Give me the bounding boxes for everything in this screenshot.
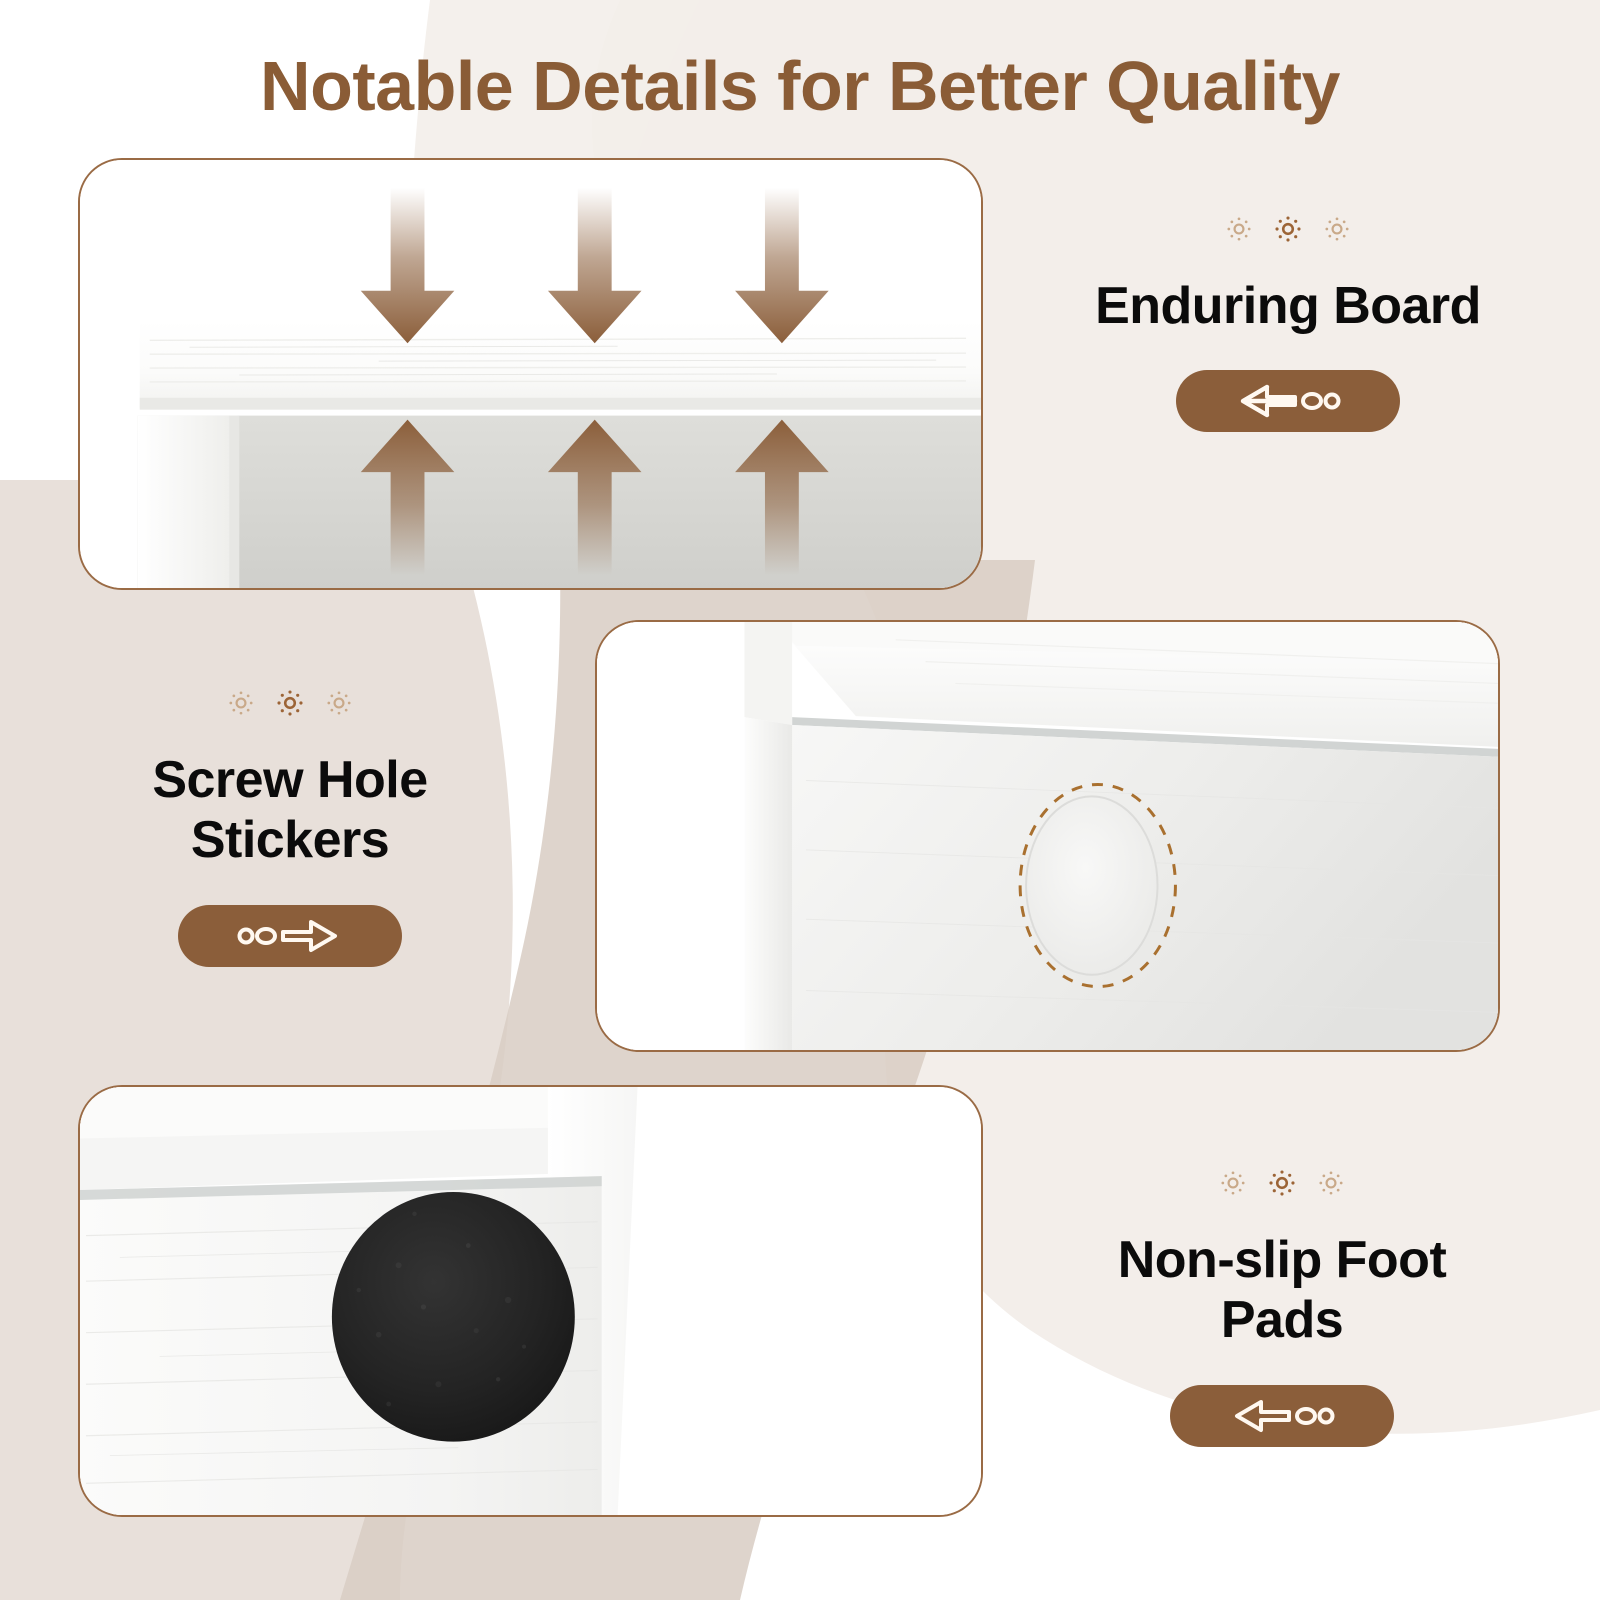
sun-sparkle-icon [228,690,254,716]
arrow-left-dots-pill[interactable] [1170,1385,1394,1447]
sun-sparkle-icon [276,689,304,717]
sun-sparkle-icon [1324,216,1350,242]
feature-title-screw-hole-line1: Screw Hole [32,750,548,810]
board-photo [80,160,981,588]
sparkle-row [32,686,548,720]
foot-pad-photo-svg [80,1087,981,1515]
feature-title-foot-pads-line2: Pads [1018,1290,1546,1350]
sun-sparkle-icon [1226,216,1252,242]
sparkle-row [1018,1166,1546,1200]
sun-sparkle-icon [1318,1170,1344,1196]
feature-card-foot-pads [78,1085,983,1517]
screw-hole-photo [597,622,1498,1050]
feature-title-enduring-board: Enduring Board [1030,276,1546,336]
arrow-right-dots-pill[interactable] [178,905,402,967]
arrow-left-dots-icon [1223,1396,1341,1436]
feature-title-foot-pads-line1: Non-slip Foot [1018,1230,1546,1290]
feature-label-enduring-board: Enduring Board [1030,212,1546,432]
page-title: Notable Details for Better Quality [0,48,1600,125]
arrow-right-dots-icon [231,916,349,956]
sun-sparkle-icon [1274,215,1302,243]
sun-sparkle-icon [1220,1170,1246,1196]
feature-card-enduring-board [78,158,983,590]
arrow-left-dots-icon [1229,381,1347,421]
feature-label-foot-pads: Non-slip Foot Pads [1018,1166,1546,1447]
board-photo-svg [80,160,981,588]
feature-title-screw-hole-line2: Stickers [32,810,548,870]
foot-pad-photo [80,1087,981,1515]
sun-sparkle-icon [1268,1169,1296,1197]
non-slip-foot-pad [332,1192,575,1442]
sparkle-row [1030,212,1546,246]
infographic-canvas: Notable Details for Better Quality [0,0,1600,1600]
feature-label-screw-hole: Screw Hole Stickers [32,686,548,967]
screw-hole-photo-svg [597,622,1498,1050]
feature-card-screw-hole [595,620,1500,1052]
arrow-left-dots-pill[interactable] [1176,370,1400,432]
sun-sparkle-icon [326,690,352,716]
